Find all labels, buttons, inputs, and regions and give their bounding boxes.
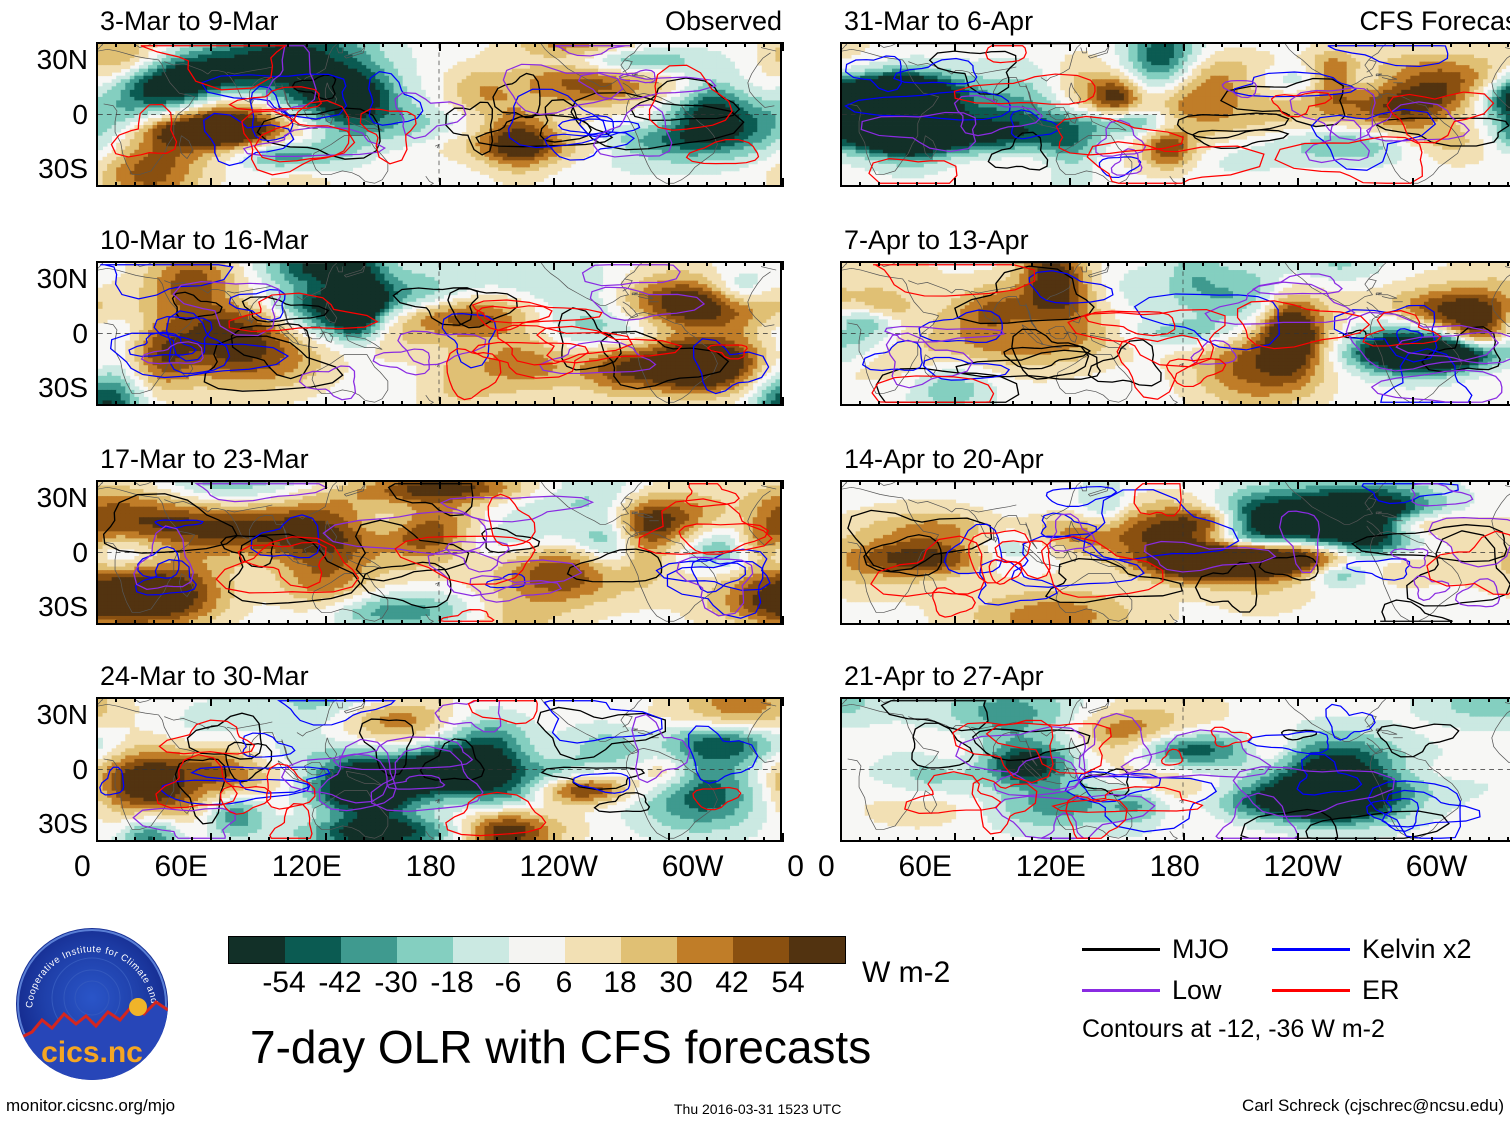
legend-label: Kelvin x2 — [1362, 936, 1472, 963]
panel-title: 7-Apr to 13-Apr — [844, 227, 1029, 254]
contour-legend: MJOKelvin x2LowERContours at -12, -36 W … — [1082, 936, 1492, 1042]
footer-center: Thu 2016-03-31 1523 UTC — [674, 1100, 841, 1118]
cics-nc-logo: Cooperative Institute for Climate and Sa… — [16, 928, 168, 1080]
panel-title: 17-Mar to 23-Mar — [100, 446, 309, 473]
x-axis-right: 060E120E180120W60W0 — [818, 852, 1510, 882]
colorbar-tick-label: -6 — [495, 966, 522, 1000]
colorbar-swatch — [789, 937, 845, 963]
map-plot-area — [840, 261, 1510, 406]
colorbar-tick-label: -18 — [430, 966, 473, 1000]
y-axis-label: 30N — [2, 484, 88, 512]
panel-title: 31-Mar to 6-Apr — [844, 8, 1033, 35]
colorbar-tick-label: 30 — [659, 966, 692, 1000]
legend-label: MJO — [1172, 936, 1229, 963]
colorbar-tick-label: 18 — [603, 966, 636, 1000]
y-axis-label: 30S — [2, 810, 88, 838]
contour-note: Contours at -12, -36 W m-2 — [1082, 1016, 1492, 1042]
panel-title: 21-Apr to 27-Apr — [844, 663, 1044, 690]
colorbar-ticks: -54-42-30-18-6618304254 — [228, 966, 846, 1004]
map-plot-area — [840, 42, 1510, 187]
colorbar-tick-label: 6 — [556, 966, 573, 1000]
colorbar: -54-42-30-18-6618304254 — [228, 936, 846, 1004]
colorbar-swatch — [229, 937, 285, 963]
y-axis-label: 0 — [2, 320, 88, 348]
y-axis-label: 30N — [2, 701, 88, 729]
legend-line-swatch — [1272, 989, 1350, 992]
x-tick-label: 0 — [818, 852, 835, 882]
legend-line-swatch — [1082, 989, 1160, 992]
y-axis-label: 30S — [2, 155, 88, 183]
colorbar-swatch — [509, 937, 565, 963]
colorbar-swatch — [565, 937, 621, 963]
y-axis-label: 0 — [2, 101, 88, 129]
colorbar-swatch — [621, 937, 677, 963]
colorbar-swatch — [341, 937, 397, 963]
x-tick-label: 60W — [1406, 852, 1468, 882]
colorbar-units-label: W m-2 — [862, 958, 950, 988]
legend-item-low: Low — [1082, 977, 1272, 1004]
x-tick-label: 60E — [155, 852, 208, 882]
map-plot-area — [96, 42, 782, 187]
legend-line-swatch — [1082, 948, 1160, 951]
footer-left[interactable]: monitor.cicsnc.org/mjo — [6, 1097, 175, 1115]
colorbar-tick-label: 42 — [715, 966, 748, 1000]
column-header: Observed — [665, 8, 782, 35]
colorbar-swatch — [733, 937, 789, 963]
colorbar-tick-label: -42 — [318, 966, 361, 1000]
y-axis-label: 0 — [2, 756, 88, 784]
colorbar-tick-label: -54 — [262, 966, 305, 1000]
map-plot-area — [840, 480, 1510, 625]
map-plot-area — [96, 697, 782, 842]
colorbar-swatch — [677, 937, 733, 963]
map-plot-area — [96, 261, 782, 406]
map-plot-area — [96, 480, 782, 625]
y-axis-label: 30N — [2, 265, 88, 293]
x-tick-label: 120E — [272, 852, 342, 882]
x-tick-label: 180 — [406, 852, 456, 882]
colorbar-swatch — [285, 937, 341, 963]
panel-title: 10-Mar to 16-Mar — [100, 227, 309, 254]
legend-label: ER — [1362, 977, 1400, 1004]
legend-label: Low — [1172, 977, 1222, 1004]
footer-right: Carl Schreck (cjschrec@ncsu.edu) — [1242, 1097, 1504, 1115]
panel-title: 24-Mar to 30-Mar — [100, 663, 309, 690]
legend-line-swatch — [1272, 948, 1350, 951]
x-tick-label: 120E — [1016, 852, 1086, 882]
column-header: CFS Forecast — [1359, 8, 1510, 35]
y-axis-label: 0 — [2, 539, 88, 567]
figure-title: 7-day OLR with CFS forecasts — [250, 1022, 871, 1072]
panel-title: 3-Mar to 9-Mar — [100, 8, 279, 35]
x-tick-label: 180 — [1150, 852, 1200, 882]
x-tick-label: 60E — [899, 852, 952, 882]
x-tick-label: 0 — [74, 852, 91, 882]
colorbar-tick-label: 54 — [771, 966, 804, 1000]
y-axis-label: 30N — [2, 46, 88, 74]
panel-title: 14-Apr to 20-Apr — [844, 446, 1044, 473]
legend-item-er: ER — [1272, 977, 1482, 1004]
legend-item-mjo: MJO — [1082, 936, 1272, 963]
x-axis-left: 060E120E180120W60W0 — [74, 852, 804, 882]
x-tick-label: 0 — [787, 852, 804, 882]
colorbar-tick-label: -30 — [374, 966, 417, 1000]
x-tick-label: 60W — [662, 852, 724, 882]
colorbar-swatch — [397, 937, 453, 963]
x-tick-label: 120W — [520, 852, 598, 882]
y-axis-label: 30S — [2, 374, 88, 402]
y-axis-label: 30S — [2, 593, 88, 621]
map-plot-area — [840, 697, 1510, 842]
colorbar-swatch — [453, 937, 509, 963]
legend-item-kelvin-x2: Kelvin x2 — [1272, 936, 1482, 963]
x-tick-label: 120W — [1264, 852, 1342, 882]
